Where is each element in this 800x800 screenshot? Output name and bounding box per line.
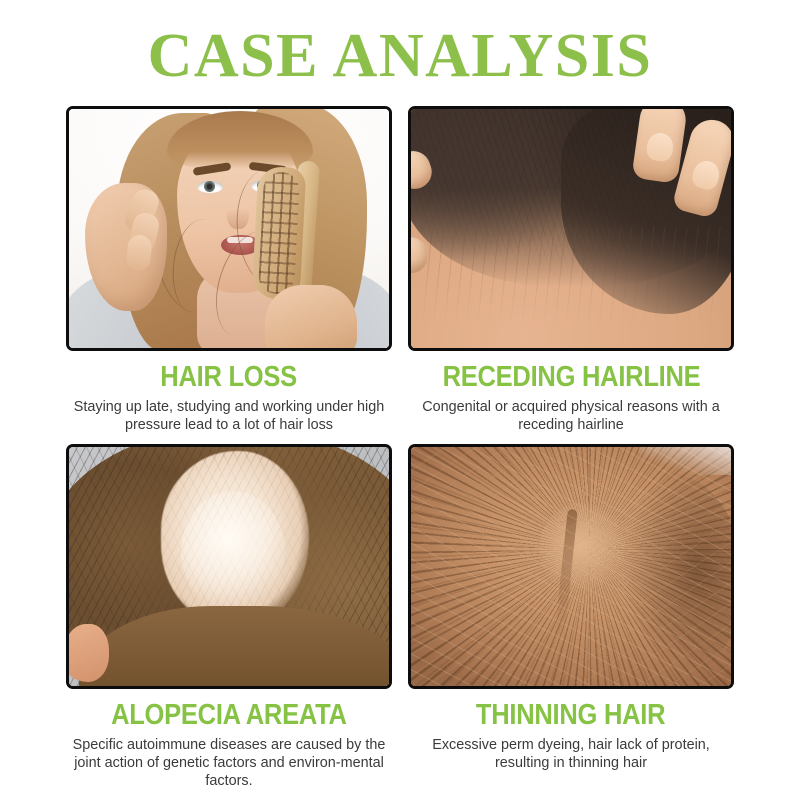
case-card-hair-loss: HAIR LOSS Staying up late, studying and … [66, 106, 392, 434]
iris-left [204, 181, 215, 192]
photo-frame-alopecia-areata [66, 444, 392, 689]
photo-thinning-hair [411, 447, 731, 686]
ear [69, 624, 109, 682]
card-body-receding-hairline: Congenital or acquired physical reasons … [412, 398, 730, 434]
photo-hair-loss [69, 109, 389, 348]
photo-frame-receding-hairline [408, 106, 734, 351]
card-heading-hair-loss: HAIR LOSS [161, 362, 298, 392]
card-body-alopecia-areata: Specific autoimmune diseases are caused … [70, 736, 388, 790]
case-card-receding-hairline: RECEDING HAIRLINE Congenital or acquired… [408, 106, 734, 434]
loose-hairs [411, 447, 731, 686]
case-row-bottom: ALOPECIA AREATA Specific autoimmune dise… [0, 444, 800, 790]
page-title: CASE ANALYSIS [0, 23, 800, 89]
case-analysis-page: CASE ANALYSIS [0, 0, 800, 800]
case-row-top: HAIR LOSS Staying up late, studying and … [0, 106, 800, 434]
photo-alopecia-areata [69, 447, 389, 686]
case-card-thinning-hair: THINNING HAIR Excessive perm dyeing, hai… [408, 444, 734, 790]
case-grid: HAIR LOSS Staying up late, studying and … [0, 106, 800, 790]
card-heading-alopecia-areata: ALOPECIA AREATA [111, 700, 347, 730]
card-heading-receding-hairline: RECEDING HAIRLINE [442, 362, 700, 392]
photo-frame-hair-loss [66, 106, 392, 351]
wispy-hairs [421, 227, 721, 337]
card-body-hair-loss: Staying up late, studying and working un… [70, 398, 388, 434]
card-heading-thinning-hair: THINNING HAIR [476, 700, 665, 730]
photo-receding-hairline [411, 109, 731, 348]
hand-right [265, 285, 357, 348]
card-body-thinning-hair: Excessive perm dyeing, hair lack of prot… [412, 736, 730, 772]
hairbrush-bristles [258, 171, 300, 295]
photo-frame-thinning-hair [408, 444, 734, 689]
highlight [639, 447, 731, 475]
hairbrush-head [252, 166, 307, 300]
case-card-alopecia-areata: ALOPECIA AREATA Specific autoimmune dise… [66, 444, 392, 790]
